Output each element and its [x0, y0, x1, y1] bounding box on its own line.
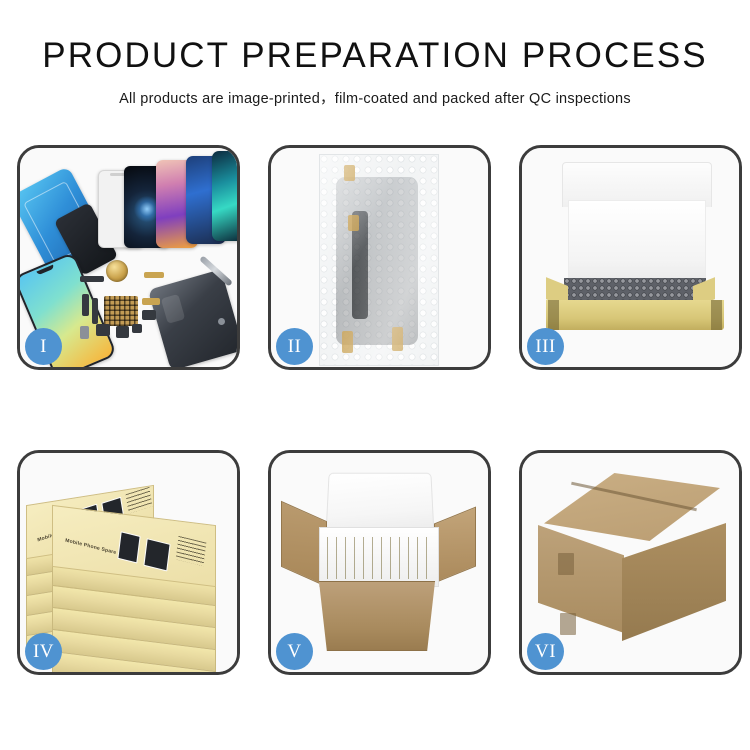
step-badge-3: III [527, 328, 564, 365]
step-badge-2: II [276, 328, 313, 365]
page-subtitle: All products are image-printed，film-coat… [0, 87, 750, 108]
step-panel-5[interactable]: V [268, 450, 491, 675]
flex-part-c-graphic [82, 294, 89, 316]
box-window-front-b [143, 538, 170, 571]
speaker-part-graphic [96, 324, 110, 336]
chip-array-graphic [104, 296, 138, 326]
step-panel-4[interactable]: Mobile Phone Spare Parts Mobile Phone Sp… [17, 450, 240, 675]
foam-sheet-graphic [568, 200, 706, 286]
button-part-graphic [132, 324, 142, 333]
step-panel-6[interactable]: VI [519, 450, 742, 675]
step-badge-6: VI [527, 633, 564, 670]
page-header: PRODUCT PREPARATION PROCESS All products… [0, 0, 750, 108]
gold-coil-part-graphic [106, 260, 128, 282]
tape-tab-mid-graphic [348, 215, 359, 231]
kraft-tray-graphic [546, 300, 724, 330]
phone-teal-curved-graphic [212, 151, 237, 241]
carton-right-face-graphic [622, 523, 726, 641]
carton-front-panel-graphic [311, 581, 443, 651]
carton-tape-upper-graphic [558, 553, 574, 575]
carton-tape-lower-graphic [560, 613, 576, 635]
tape-tab-bottom-right-graphic [392, 327, 403, 351]
step-panel-1[interactable]: I [17, 145, 240, 370]
flex-part-b-graphic [144, 272, 164, 278]
screw-part-graphic [218, 318, 225, 325]
step-panel-3[interactable]: III [519, 145, 742, 370]
step-panel-2[interactable]: II [268, 145, 491, 370]
carton-flap-right-graphic [434, 507, 476, 584]
tape-tab-bottom-left-graphic [342, 331, 353, 353]
carton-left-face-graphic [538, 525, 624, 633]
wrapped-screen-graphic [336, 177, 418, 345]
taptic-part-graphic [116, 326, 129, 338]
page-title: PRODUCT PREPARATION PROCESS [0, 38, 750, 75]
flex-part-f-graphic [142, 310, 156, 320]
step-badge-5: V [276, 633, 313, 670]
tape-tab-top-graphic [344, 165, 355, 181]
bubble-wrap-graphic [319, 154, 439, 366]
box-spec-text-back [126, 487, 153, 514]
flex-part-a-graphic [80, 276, 104, 282]
flex-part-d-graphic [92, 298, 98, 324]
step-badge-4: IV [25, 633, 62, 670]
step-badge-1: I [25, 328, 62, 365]
camera-part-graphic [80, 326, 89, 339]
box-spec-text-front [176, 536, 207, 566]
flex-part-e-graphic [142, 298, 160, 305]
yellow-boxes-inside-graphic [327, 537, 427, 579]
box-window-front-a [117, 531, 140, 563]
process-steps-grid: I II III [17, 145, 740, 675]
